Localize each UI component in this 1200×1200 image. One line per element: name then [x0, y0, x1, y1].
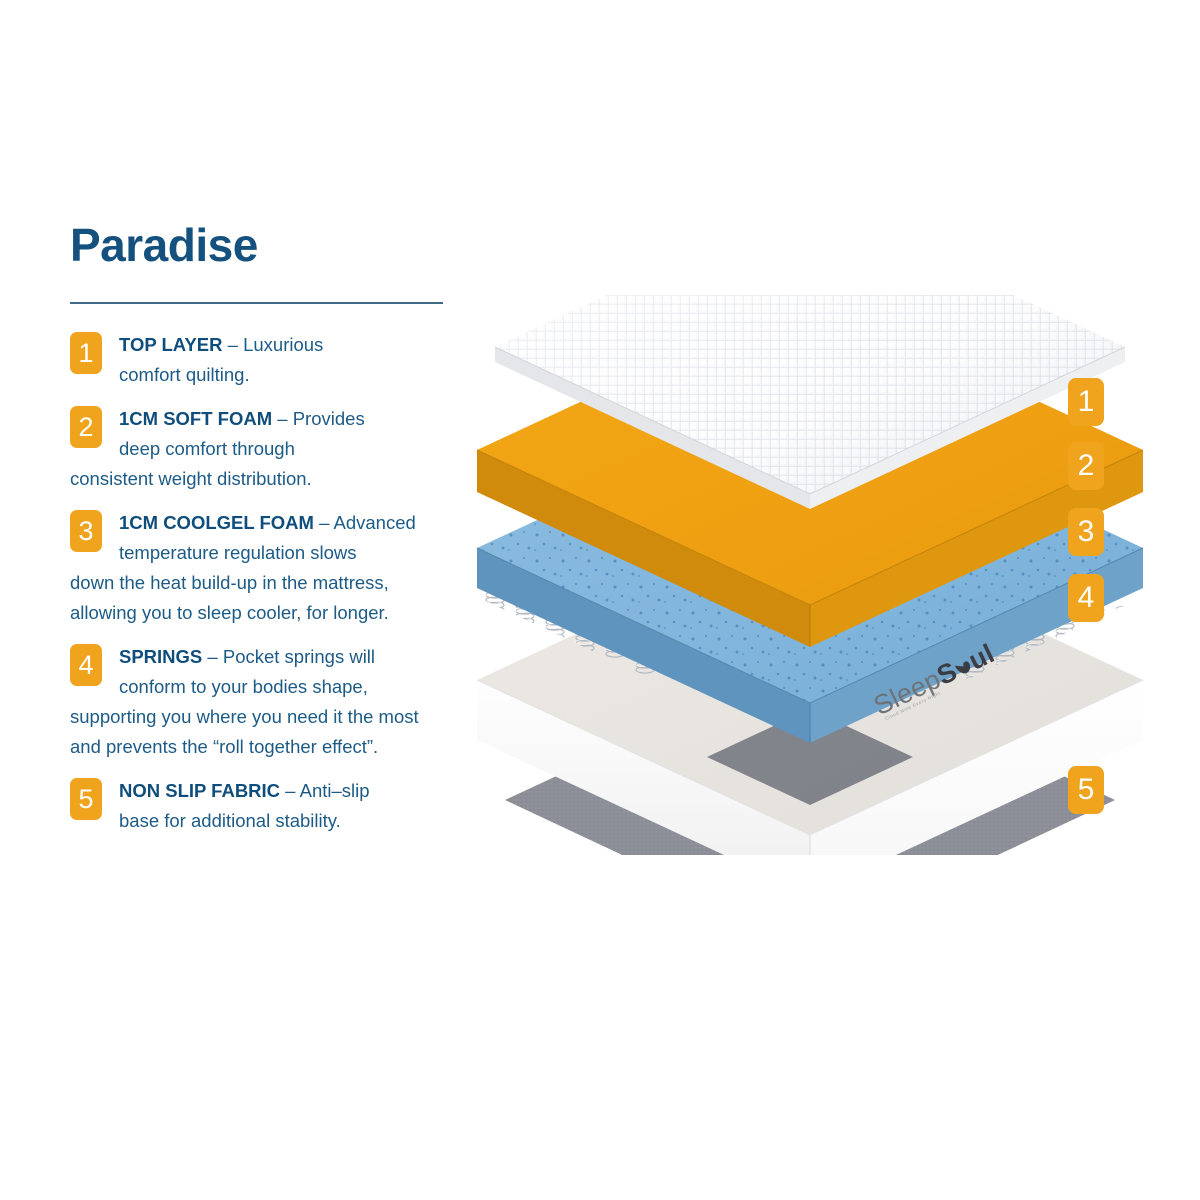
list-item: 4 SPRINGS – Pocket springs will conform …: [70, 642, 442, 762]
layer-separator-3: –: [314, 512, 334, 533]
layer-badge-1: 1: [70, 332, 102, 374]
layer-line2-2: deep comfort through: [70, 434, 442, 464]
layer-line2-1: comfort quilting.: [70, 360, 442, 390]
layer-description-2: 1CM SOFT FOAM – Provides deep comfort th…: [70, 404, 442, 494]
layer-separator-5: –: [280, 780, 300, 801]
mattress-layers-diagram: [455, 295, 1165, 855]
layer-badge-2: 2: [70, 406, 102, 448]
layer-line1-5: Anti–slip: [300, 780, 370, 801]
layer-separator-1: –: [223, 334, 244, 355]
layer-line1-2: Provides: [293, 408, 365, 429]
layer-description-5: NON SLIP FABRIC – Anti–slip base for add…: [70, 776, 442, 836]
list-item: 5 NON SLIP FABRIC – Anti–slip base for a…: [70, 776, 442, 836]
layer-description-1: TOP LAYER – Luxurious comfort quilting.: [70, 330, 442, 390]
layer-heading-2: 1CM SOFT FOAM: [119, 408, 272, 429]
list-item: 1 TOP LAYER – Luxurious comfort quilting…: [70, 330, 442, 390]
diagram-marker-4: 4: [1068, 574, 1104, 622]
diagram-marker-3: 3: [1068, 508, 1104, 556]
layer-line2-4: conform to your bodies shape,: [70, 672, 442, 702]
layer-line1-3: Advanced: [334, 512, 416, 533]
list-item: 3 1CM COOLGEL FOAM – Advanced temperatur…: [70, 508, 442, 628]
layer-badge-5: 5: [70, 778, 102, 820]
title-divider: [70, 302, 443, 304]
diagram-marker-1: 1: [1068, 378, 1104, 426]
layer-line1-4: Pocket springs will: [223, 646, 375, 667]
info-panel: Paradise 1 TOP LAYER – Luxurious comfort…: [70, 222, 450, 850]
layer-line2-5: base for additional stability.: [70, 806, 442, 836]
layer-heading-4: SPRINGS: [119, 646, 202, 667]
diagram-marker-5: 5: [1068, 766, 1104, 814]
layer-description-4: SPRINGS – Pocket springs will conform to…: [70, 642, 442, 762]
list-item: 2 1CM SOFT FOAM – Provides deep comfort …: [70, 404, 442, 494]
layer-heading-1: TOP LAYER: [119, 334, 223, 355]
layer-line2-3: temperature regulation slows: [70, 538, 442, 568]
diagram-marker-2: 2: [1068, 442, 1104, 490]
layer-heading-3: 1CM COOLGEL FOAM: [119, 512, 314, 533]
layer-description-3: 1CM COOLGEL FOAM – Advanced temperature …: [70, 508, 442, 628]
layer-linefull-3: down the heat build-up in the mattress, …: [70, 568, 442, 628]
layer-linefull-4: supporting you where you need it the mos…: [70, 702, 442, 762]
layer-list: 1 TOP LAYER – Luxurious comfort quilting…: [70, 330, 442, 836]
layer-badge-4: 4: [70, 644, 102, 686]
layer-badge-3: 3: [70, 510, 102, 552]
layer-linefull-2: consistent weight distribution.: [70, 464, 442, 494]
layer-separator-2: –: [272, 408, 293, 429]
layer-heading-5: NON SLIP FABRIC: [119, 780, 280, 801]
layer-separator-4: –: [202, 646, 223, 667]
layer-line1-1: Luxurious: [243, 334, 323, 355]
page-title: Paradise: [70, 222, 450, 268]
